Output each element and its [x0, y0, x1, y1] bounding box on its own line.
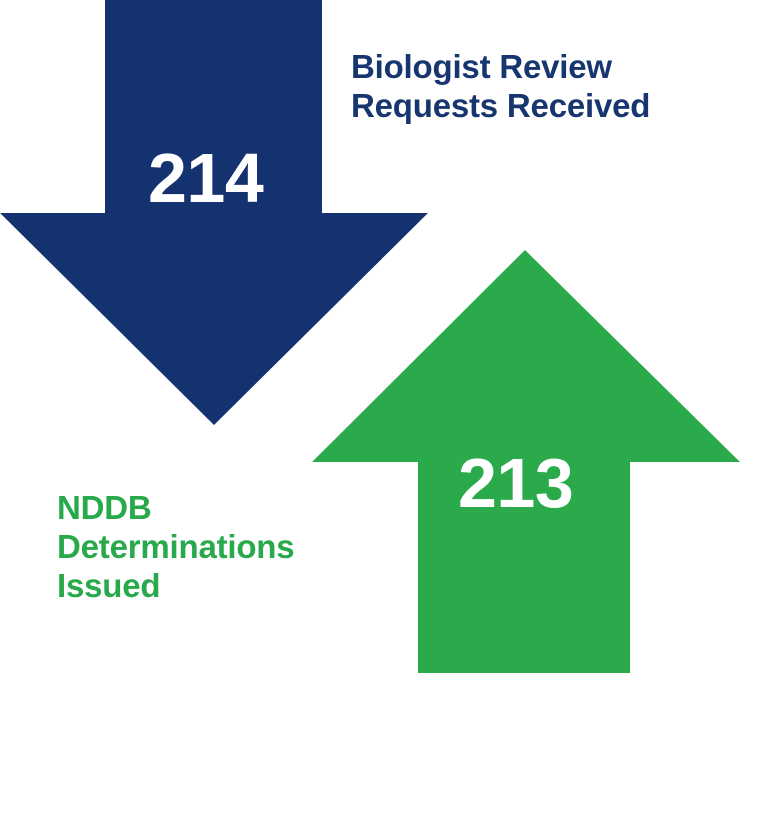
received-value: 214: [148, 143, 263, 213]
infographic-canvas: 214 213 Biologist Review Requests Receiv…: [0, 0, 770, 820]
received-label: Biologist Review Requests Received: [351, 48, 751, 126]
issued-label-line-3: Issued: [57, 567, 397, 606]
issued-label: NDDB Determinations Issued: [57, 489, 397, 606]
issued-label-line-1: NDDB: [57, 489, 397, 528]
issued-label-line-2: Determinations: [57, 528, 397, 567]
received-label-line-1: Biologist Review: [351, 48, 751, 87]
received-label-line-2: Requests Received: [351, 87, 751, 126]
issued-value: 213: [458, 448, 573, 518]
